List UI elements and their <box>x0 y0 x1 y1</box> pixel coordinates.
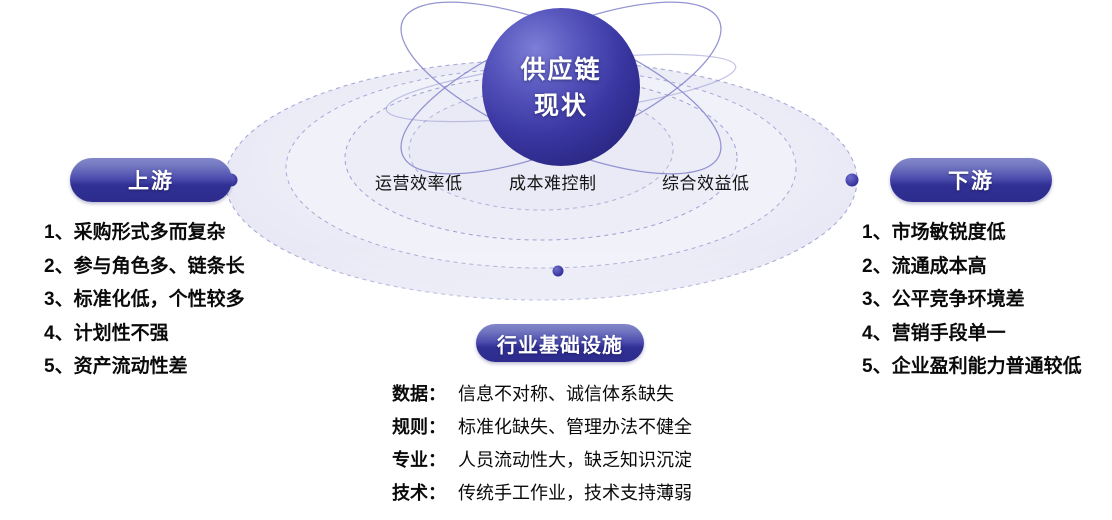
infra-row-3-label: 专业： <box>392 444 454 477</box>
downstream-item-2-text: 流通成本高 <box>892 256 987 277</box>
downstream-item-4-number: 4、 <box>862 323 892 344</box>
downstream-pill-label: 下游 <box>948 165 994 195</box>
diagram-canvas: 供应链 现状 运营效率低 成本难控制 综合效益低 上游 1、采购形式多而复杂 2… <box>0 0 1112 520</box>
upstream-pill[interactable]: 上游 <box>70 158 232 202</box>
infrastructure-pill-label: 行业基础设施 <box>497 329 623 358</box>
upstream-item-1-number: 1、 <box>44 222 74 243</box>
list-item: 3、标准化低，个性较多 <box>44 283 245 317</box>
upstream-item-3-text: 标准化低，个性较多 <box>74 289 245 310</box>
infra-row-4-value: 传统手工作业，技术支持薄弱 <box>458 477 692 510</box>
infra-row-4-label: 技术： <box>392 477 454 510</box>
list-item: 3、公平竞争环境差 <box>862 283 1082 317</box>
ring-label-overall-benefit: 综合效益低 <box>662 169 750 194</box>
downstream-item-3-number: 3、 <box>862 289 892 310</box>
list-item: 5、企业盈利能力普通较低 <box>862 350 1082 384</box>
list-item: 2、参与角色多、链条长 <box>44 250 245 284</box>
list-item: 4、营销手段单一 <box>862 317 1082 351</box>
upstream-item-2-number: 2、 <box>44 256 74 277</box>
upstream-item-1-text: 采购形式多而复杂 <box>74 222 226 243</box>
upstream-item-5-text: 资产流动性差 <box>74 356 188 377</box>
list-item: 4、计划性不强 <box>44 317 245 351</box>
list-item: 1、市场敏锐度低 <box>862 216 1082 250</box>
list-item: 技术： 传统手工作业，技术支持薄弱 <box>392 477 692 510</box>
downstream-item-2-number: 2、 <box>862 256 892 277</box>
upstream-item-4-number: 4、 <box>44 323 74 344</box>
downstream-item-5-text: 企业盈利能力普通较低 <box>892 356 1082 377</box>
ring-label-cost-control: 成本难控制 <box>509 169 597 194</box>
infra-row-1-label: 数据： <box>392 378 454 411</box>
infra-row-2-label: 规则： <box>392 411 454 444</box>
upstream-item-3-number: 3、 <box>44 289 74 310</box>
downstream-item-3-text: 公平竞争环境差 <box>892 289 1025 310</box>
list-item: 规则： 标准化缺失、管理办法不健全 <box>392 411 692 444</box>
list-item: 2、流通成本高 <box>862 250 1082 284</box>
infra-row-2-value: 标准化缺失、管理办法不健全 <box>458 411 692 444</box>
upstream-item-5-number: 5、 <box>44 356 74 377</box>
upstream-list: 1、采购形式多而复杂 2、参与角色多、链条长 3、标准化低，个性较多 4、计划性… <box>44 216 245 384</box>
upstream-pill-label: 上游 <box>128 165 174 195</box>
infra-row-3-value: 人员流动性大，缺乏知识沉淀 <box>458 444 692 477</box>
list-item: 专业： 人员流动性大，缺乏知识沉淀 <box>392 444 692 477</box>
downstream-list: 1、市场敏锐度低 2、流通成本高 3、公平竞争环境差 4、营销手段单一 5、企业… <box>862 216 1082 384</box>
downstream-item-1-number: 1、 <box>862 222 892 243</box>
center-title-line-1: 供应链 <box>482 52 640 88</box>
infrastructure-pill[interactable]: 行业基础设施 <box>476 324 644 362</box>
center-title-line-2: 现状 <box>482 88 640 124</box>
list-item: 1、采购形式多而复杂 <box>44 216 245 250</box>
ring-label-operating-efficiency: 运营效率低 <box>375 169 463 194</box>
downstream-item-1-text: 市场敏锐度低 <box>892 222 1006 243</box>
infra-row-1-value: 信息不对称、诚信体系缺失 <box>458 378 674 411</box>
downstream-pill[interactable]: 下游 <box>890 158 1052 202</box>
downstream-item-4-text: 营销手段单一 <box>892 323 1006 344</box>
center-sphere-title: 供应链 现状 <box>482 52 640 124</box>
list-item: 5、资产流动性差 <box>44 350 245 384</box>
upstream-item-4-text: 计划性不强 <box>74 323 169 344</box>
list-item: 数据： 信息不对称、诚信体系缺失 <box>392 378 692 411</box>
downstream-item-5-number: 5、 <box>862 356 892 377</box>
right-node-dot <box>846 174 859 187</box>
upstream-item-2-text: 参与角色多、链条长 <box>74 256 245 277</box>
bottom-node-dot <box>553 266 564 277</box>
infrastructure-rows: 数据： 信息不对称、诚信体系缺失 规则： 标准化缺失、管理办法不健全 专业： 人… <box>392 378 692 510</box>
